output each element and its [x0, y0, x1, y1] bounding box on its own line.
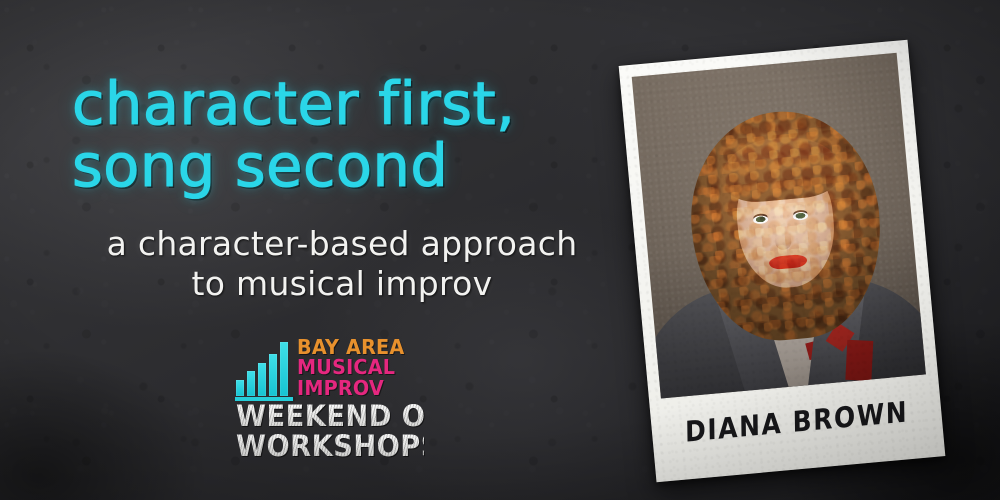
speaker-portrait-photo	[632, 53, 926, 399]
logo-wordmark: BAY AREA MUSICAL IMPROV	[297, 337, 409, 399]
logo-word-bay-area: BAY AREA	[297, 337, 404, 358]
headline-line-2: song second	[72, 134, 612, 198]
bar-4	[269, 354, 277, 396]
bar-5	[280, 342, 288, 396]
headline: character first, song second	[72, 72, 612, 198]
subtitle-line-1: a character-based approach	[72, 224, 612, 264]
logo-tagline-line-2: WORKSHOPS	[236, 431, 424, 461]
bar-2	[247, 371, 255, 396]
bar-1	[236, 380, 244, 396]
photo-shading-overlay	[632, 53, 926, 399]
logo-word-musical: MUSICAL	[297, 357, 404, 378]
bay-area-musical-improv-logo: BAY AREA MUSICAL IMPROV WEEKEND OF WORKS…	[236, 330, 436, 450]
subtitle: a character-based approach to musical im…	[72, 224, 612, 304]
promo-banner: character first, song second a character…	[0, 0, 1000, 500]
subtitle-line-2: to musical improv	[72, 264, 612, 304]
polaroid-photo-card: DIANA BROWN	[619, 40, 946, 483]
logo-tagline: WEEKEND OF WORKSHOPS	[236, 401, 436, 461]
left-content: character first, song second a character…	[0, 0, 620, 500]
bar-3	[258, 363, 266, 396]
bar-chart-icon	[236, 346, 288, 396]
speaker-name: DIANA BROWN	[685, 395, 909, 448]
headline-line-1: character first,	[72, 72, 612, 136]
logo-top-row: BAY AREA MUSICAL IMPROV	[236, 330, 436, 396]
logo-tagline-line-1: WEEKEND OF	[236, 401, 424, 431]
logo-word-improv: IMPROV	[297, 378, 404, 399]
